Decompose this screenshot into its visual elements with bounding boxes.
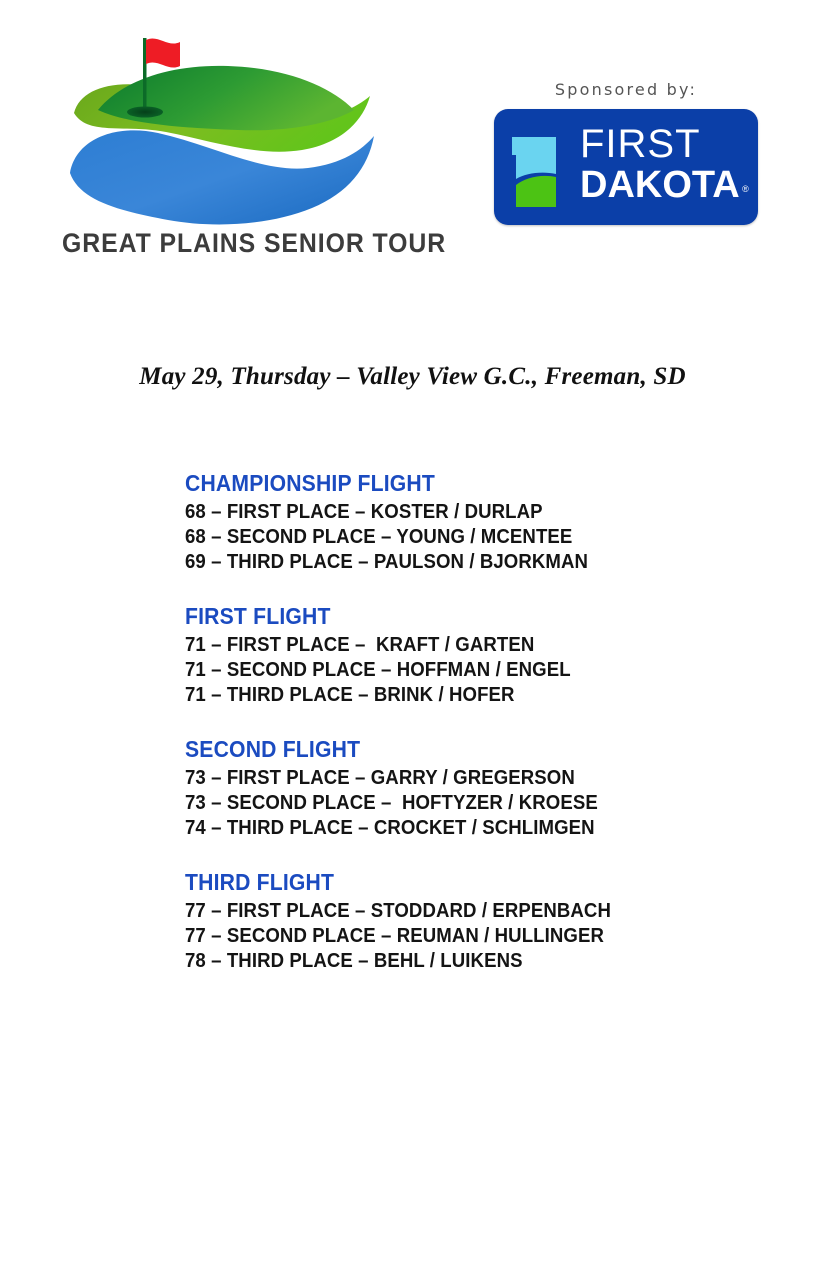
flight-heading: SECOND FLIGHT — [185, 736, 737, 762]
flight-heading: CHAMPIONSHIP FLIGHT — [185, 470, 737, 496]
result-row: 77 – SECOND PLACE – REUMAN / HULLINGER — [185, 924, 743, 949]
flight-group: FIRST FLIGHT 71 – FIRST PLACE – KRAFT / … — [185, 603, 785, 708]
first-dakota-mark-icon — [512, 127, 570, 207]
first-dakota-wordmark: FIRST DAKOTA® — [580, 123, 740, 205]
result-row: 68 – FIRST PLACE – KOSTER / DURLAP — [185, 500, 743, 525]
result-row: 74 – THIRD PLACE – CROCKET / SCHLIMGEN — [185, 816, 743, 841]
first-dakota-dakota-text: DAKOTA — [580, 164, 740, 206]
logo-flag-pole — [143, 38, 147, 111]
page-header: GREAT PLAINS SENIOR TOUR Sponsored by: F… — [0, 0, 825, 300]
flight-group: THIRD FLIGHT 77 – FIRST PLACE – STODDARD… — [185, 869, 785, 974]
logo-blue-swoosh — [70, 130, 374, 224]
event-date-venue: May 29, Thursday – Valley View G.C., Fre… — [0, 363, 825, 391]
logo-green-hill — [98, 66, 354, 130]
flight-heading: FIRST FLIGHT — [185, 603, 737, 629]
great-plains-senior-tour-logo: GREAT PLAINS SENIOR TOUR — [62, 28, 382, 278]
result-row: 68 – SECOND PLACE – YOUNG / MCENTEE — [185, 525, 743, 550]
result-row: 69 – THIRD PLACE – PAULSON / BJORKMAN — [185, 550, 743, 575]
result-row: 71 – THIRD PLACE – BRINK / HOFER — [185, 683, 743, 708]
sponsored-by-label: Sponsored by: — [490, 80, 762, 99]
logo-wordmark: GREAT PLAINS SENIOR TOUR — [62, 228, 356, 259]
result-row: 73 – SECOND PLACE – HOFTYZER / KROESE — [185, 791, 743, 816]
result-row: 77 – FIRST PLACE – STODDARD / ERPENBACH — [185, 899, 743, 924]
result-row: 78 – THIRD PLACE – BEHL / LUIKENS — [185, 949, 743, 974]
result-row: 71 – SECOND PLACE – HOFFMAN / ENGEL — [185, 658, 743, 683]
first-dakota-line-dakota: DAKOTA® — [580, 165, 740, 205]
logo-golf-hole — [127, 107, 163, 118]
flight-group: SECOND FLIGHT 73 – FIRST PLACE – GARRY /… — [185, 736, 785, 841]
results-list: CHAMPIONSHIP FLIGHT 68 – FIRST PLACE – K… — [185, 470, 785, 974]
sponsor-block: Sponsored by: FIRST DAKOTA® — [490, 80, 770, 225]
result-row: 71 – FIRST PLACE – KRAFT / GARTEN — [185, 633, 743, 658]
tournament-results-page: { "colors": { "heading_blue": "#1b4bc0",… — [0, 0, 825, 1275]
result-row: 73 – FIRST PLACE – GARRY / GREGERSON — [185, 766, 743, 791]
flight-heading: THIRD FLIGHT — [185, 869, 737, 895]
first-dakota-logo: FIRST DAKOTA® — [494, 109, 758, 225]
registered-trademark-icon: ® — [742, 169, 749, 209]
first-dakota-line-first: FIRST — [580, 123, 740, 165]
golf-green-swoosh-icon — [62, 28, 382, 233]
flight-group: CHAMPIONSHIP FLIGHT 68 – FIRST PLACE – K… — [185, 470, 785, 575]
logo-red-flag — [146, 38, 180, 67]
